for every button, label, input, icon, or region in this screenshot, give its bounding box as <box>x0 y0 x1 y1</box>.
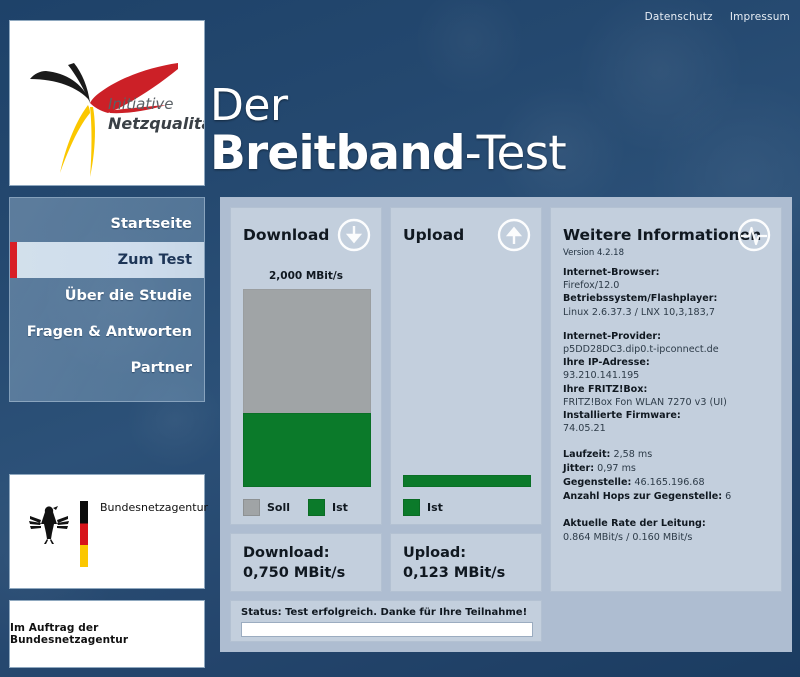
info-value: 2,58 ms <box>613 449 652 460</box>
upload-bar-ist <box>403 475 531 487</box>
sidebar-item-label: Fragen & Antworten <box>27 324 192 340</box>
info-row: Internet-Provider: p5DD28DC3.dip0.t-ipco… <box>563 330 773 356</box>
info-value: FRITZ!Box Fon WLAN 7270 v3 (UI) <box>563 396 773 409</box>
info-row: Internet-Browser: Firefox/12.0 <box>563 266 773 292</box>
sidebar-item-label: Partner <box>131 360 192 376</box>
info-value: 6 <box>725 491 731 502</box>
info-row: Ihre IP-Adresse: 93.210.141.195 <box>563 356 773 382</box>
pulse-circle-icon <box>737 218 771 252</box>
upload-chart-panel: Upload Ist <box>390 207 542 525</box>
info-value: 93.210.141.195 <box>563 369 773 382</box>
page-title-line1: Der <box>210 84 630 128</box>
info-key: Jitter: <box>563 463 594 474</box>
download-result-label: Download: <box>243 545 330 561</box>
download-panel-title: Download <box>243 226 329 244</box>
page-title: Der Breitband-Test <box>210 84 630 177</box>
info-key: Aktuelle Rate der Leitung: <box>563 517 773 530</box>
download-scale-label: 2,000 MBit/s <box>231 270 381 282</box>
sidebar-item-label: Zum Test <box>118 252 192 268</box>
sidebar-item-label: Startseite <box>111 216 192 232</box>
initiative-netzqualitaet-logo: Initiative Netzqualität <box>9 20 205 186</box>
info-row: Betriebssystem/Flashplayer: Linux 2.6.37… <box>563 292 773 318</box>
info-key: Laufzeit: <box>563 449 610 460</box>
info-key: Ihre FRITZ!Box: <box>563 383 773 396</box>
info-value: 46.165.196.68 <box>634 477 704 488</box>
commission-notice: Im Auftrag der Bundesnetzagentur <box>9 600 205 668</box>
spacer <box>563 435 773 448</box>
spacer <box>563 504 773 517</box>
page-title-line2-rest: -Test <box>465 126 566 181</box>
info-key: Anzahl Hops zur Gegenstelle: <box>563 491 722 502</box>
info-value: p5DD28DC3.dip0.t-ipconnect.de <box>563 343 773 356</box>
info-row: Gegenstelle: 46.165.196.68 <box>563 476 773 490</box>
info-value: 0.864 MBit/s / 0.160 MBit/s <box>563 531 773 544</box>
legend-swatch-soll <box>243 499 260 516</box>
info-key: Installierte Firmware: <box>563 409 773 422</box>
info-value: Firefox/12.0 <box>563 279 773 292</box>
sidebar-item-startseite[interactable]: Startseite <box>10 206 204 242</box>
logo-graphic: Initiative Netzqualität <box>10 21 204 185</box>
legend-label-ist: Ist <box>427 501 443 514</box>
sidebar-item-label: Über die Studie <box>65 288 192 304</box>
info-panel-title: Weitere Informationen <box>563 226 761 244</box>
download-result-value: 0,750 MBit/s <box>243 565 345 581</box>
info-key: Internet-Provider: <box>563 330 773 343</box>
legend-swatch-ist <box>403 499 420 516</box>
commission-label: Im Auftrag der Bundesnetzagentur <box>10 622 204 646</box>
info-key: Betriebssystem/Flashplayer: <box>563 292 773 305</box>
download-bar-ist <box>243 413 371 487</box>
status-message: Status: Test erfolgreich. Danke für Ihre… <box>241 607 527 618</box>
legend-entry-soll: Soll <box>243 499 290 516</box>
legend-entry-ist: Ist <box>308 499 348 516</box>
upload-legend: Ist <box>403 499 461 516</box>
logo-text-line1: Initiative <box>108 95 174 113</box>
legend-swatch-ist <box>308 499 325 516</box>
link-datenschutz[interactable]: Datenschutz <box>645 11 713 23</box>
info-key: Ihre IP-Adresse: <box>563 356 773 369</box>
logo-text-line2: Netzqualität <box>108 114 204 133</box>
info-row: Ihre FRITZ!Box: FRITZ!Box Fon WLAN 7270 … <box>563 383 773 409</box>
arrow-up-circle-icon <box>497 218 531 252</box>
info-key: Gegenstelle: <box>563 477 631 488</box>
sidebar-item-zum-test[interactable]: Zum Test <box>10 242 204 278</box>
info-row: Aktuelle Rate der Leitung: 0.864 MBit/s … <box>563 517 773 543</box>
info-value: Linux 2.6.37.3 / LNX 10,3,183,7 <box>563 306 773 319</box>
sidebar-item-ueber-die-studie[interactable]: Über die Studie <box>10 278 204 314</box>
info-row: Laufzeit: 2,58 ms <box>563 448 773 462</box>
info-value: 0,97 ms <box>597 463 636 474</box>
upload-result-label: Upload: <box>403 545 466 561</box>
german-flag-bar <box>80 501 88 567</box>
bundesnetzagentur-logo: Bundesnetzagentur <box>9 474 205 589</box>
status-input[interactable] <box>241 622 533 637</box>
version-label: Version 4.2.18 <box>563 248 624 258</box>
status-panel: Status: Test erfolgreich. Danke für Ihre… <box>230 600 542 642</box>
federal-eagle-icon <box>28 499 70 545</box>
upload-result-panel: Upload: 0,123 MBit/s <box>390 533 542 592</box>
download-result-panel: Download: 0,750 MBit/s <box>230 533 382 592</box>
upload-result-value: 0,123 MBit/s <box>403 565 505 581</box>
upload-bar-area <box>403 289 531 487</box>
spacer <box>563 319 773 330</box>
download-legend: Soll Ist <box>243 499 366 516</box>
info-row: Jitter: 0,97 ms <box>563 462 773 476</box>
sidebar-nav: Startseite Zum Test Über die Studie Frag… <box>9 197 205 402</box>
sidebar-item-partner[interactable]: Partner <box>10 350 204 386</box>
upload-panel-title: Upload <box>403 226 464 244</box>
page-title-line2-bold: Breitband <box>210 126 465 181</box>
info-panel-body: Internet-Browser: Firefox/12.0 Betriebss… <box>563 266 773 544</box>
info-row: Installierte Firmware: 74.05.21 <box>563 409 773 435</box>
bundesnetzagentur-label: Bundesnetzagentur <box>100 501 208 514</box>
info-value: 74.05.21 <box>563 422 773 435</box>
main-content: Download 2,000 MBit/s Soll Ist Upload <box>220 197 792 652</box>
legend-label-ist: Ist <box>332 501 348 514</box>
legend-entry-ist: Ist <box>403 499 443 516</box>
sidebar-item-fragen-antworten[interactable]: Fragen & Antworten <box>10 314 204 350</box>
info-panel: Weitere Informationen Version 4.2.18 Int… <box>550 207 782 592</box>
info-key: Internet-Browser: <box>563 266 773 279</box>
download-bar-area <box>243 289 371 487</box>
download-chart-panel: Download 2,000 MBit/s Soll Ist <box>230 207 382 525</box>
legend-label-soll: Soll <box>267 501 290 514</box>
arrow-down-circle-icon <box>337 218 371 252</box>
info-row: Anzahl Hops zur Gegenstelle: 6 <box>563 490 773 504</box>
link-impressum[interactable]: Impressum <box>730 11 790 23</box>
